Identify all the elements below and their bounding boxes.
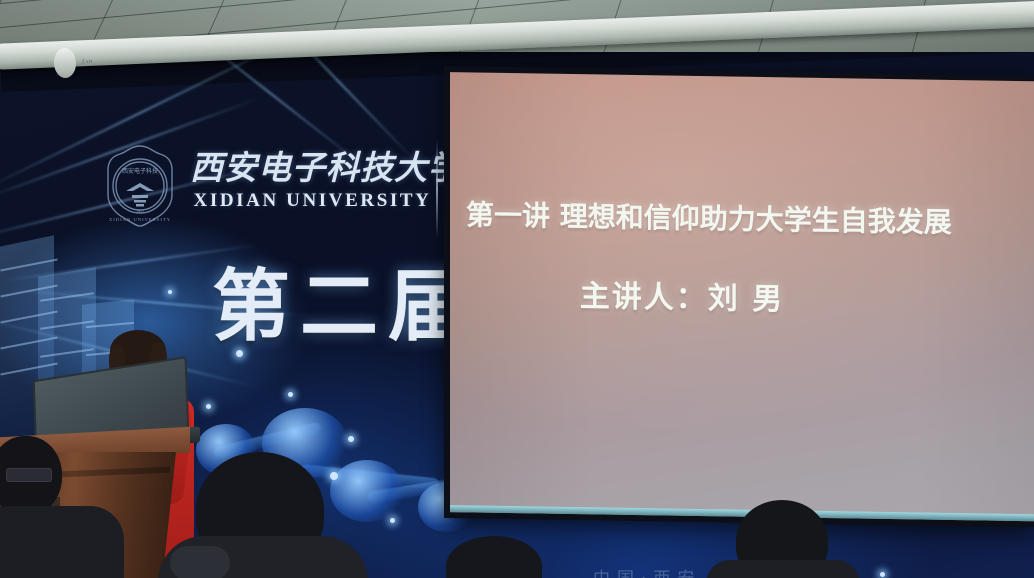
audience-member: [0, 506, 124, 578]
audience-member: [706, 560, 860, 578]
university-name-cn: 西安电子科技大学: [190, 148, 435, 188]
lecture-hall-photo: 西安电子科技 XIDIAN UNIVERSITY 1931 西安电子科技大学 X…: [0, 0, 1034, 578]
svg-text:XIDIAN UNIVERSITY: XIDIAN UNIVERSITY: [109, 217, 171, 222]
svg-text:1931: 1931: [136, 209, 144, 214]
university-emblem-icon: 西安电子科技 XIDIAN UNIVERSITY 1931: [103, 143, 177, 229]
projection-screen-surface: 第一讲 理想和信仰助力大学生自我发展 主讲人：刘 男: [450, 72, 1034, 521]
audience-member-highlight: [170, 546, 230, 578]
university-name-en: XIDIAN UNIVERSITY: [190, 190, 435, 212]
university-name-block: 西安电子科技大学 XIDIAN UNIVERSITY: [190, 148, 435, 212]
roller-logo-label: Lxn: [82, 59, 93, 65]
banner-divider: [436, 140, 438, 238]
svg-text:西安电子科技: 西安电子科技: [122, 167, 158, 175]
eyeglasses-icon: [6, 468, 52, 482]
banner-footer-text: 中国·西安: [593, 564, 701, 578]
banner-edition-text: 第二届: [212, 266, 476, 348]
projection-screen-frame: 第一讲 理想和信仰助力大学生自我发展 主讲人：刘 男: [444, 66, 1034, 527]
